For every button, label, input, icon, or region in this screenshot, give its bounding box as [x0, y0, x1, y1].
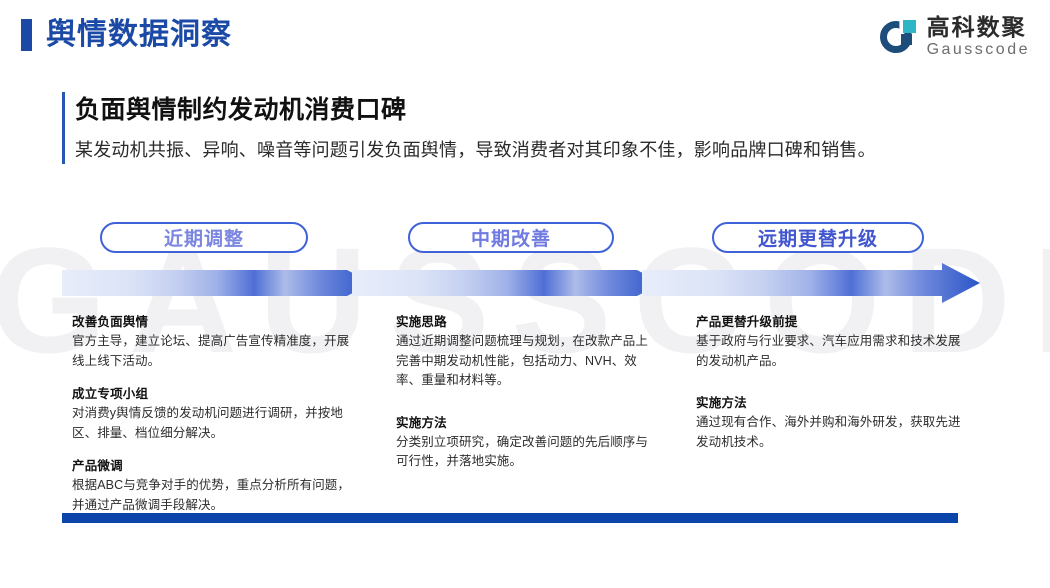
content-block-body: 基于政府与行业要求、汽车应用需求和技术发展的发动机产品。	[696, 332, 964, 371]
content-block: 实施思路 通过近期调整问题梳理与规划，在改款产品上完善中期发动机性能，包括动力、…	[396, 312, 658, 391]
content-block-title: 实施方法	[396, 413, 658, 433]
timeline-arrow	[62, 263, 980, 303]
gausscode-logo-icon	[880, 18, 918, 56]
header-accent-bar	[21, 19, 32, 51]
logo-square-dark	[901, 34, 912, 45]
content-block-body: 根据ABC与竞争对手的优势，重点分析所有问题，并通过产品微调手段解决。	[72, 476, 355, 515]
content-block-title: 实施思路	[396, 312, 658, 332]
column-mid-term: 实施思路 通过近期调整问题梳理与规划，在改款产品上完善中期发动机性能，包括动力、…	[396, 312, 658, 485]
content-block-body: 通过近期调整问题梳理与规划，在改款产品上完善中期发动机性能，包括动力、NVH、效…	[396, 332, 658, 391]
column-long-term: 产品更替升级前提 基于政府与行业要求、汽车应用需求和技术发展的发动机产品。 实施…	[696, 312, 964, 465]
content-block-body: 分类别立项研究，确定改善问题的先后顺序与可行性，并落地实施。	[396, 433, 658, 472]
stage-pill-label: 中期改善	[471, 224, 551, 251]
content-block-title: 产品更替升级前提	[696, 312, 964, 332]
logo-name-en: Gausscode	[927, 42, 1030, 58]
content-block: 产品微调 根据ABC与竞争对手的优势，重点分析所有问题，并通过产品微调手段解决。	[72, 456, 355, 515]
content-block: 产品更替升级前提 基于政府与行业要求、汽车应用需求和技术发展的发动机产品。	[696, 312, 964, 371]
stage-pill-long-term[interactable]: 远期更替升级	[712, 222, 924, 253]
stage-pill-mid-term[interactable]: 中期改善	[408, 222, 614, 253]
content-block-title: 成立专项小组	[72, 384, 355, 404]
column-near-term: 改善负面舆情 官方主导，建立论坛、提高广告宣传精准度，开展线上线下活动。 成立专…	[72, 312, 355, 528]
slide-header: 舆情数据洞察 高科数聚 Gausscode	[0, 0, 1050, 72]
content-block-title: 产品微调	[72, 456, 355, 476]
content-block-body: 通过现有合作、海外并购和海外研发，获取先进发动机技术。	[696, 413, 964, 452]
timeline-arrow-svg	[62, 263, 980, 303]
logo-name-cn: 高科数聚	[927, 16, 1030, 39]
stage-pill-near-term[interactable]: 近期调整	[100, 222, 308, 253]
brand-logo: 高科数聚 Gausscode	[880, 11, 1030, 63]
content-block-title: 实施方法	[696, 393, 964, 413]
content-block-title: 改善负面舆情	[72, 312, 355, 332]
content-block: 实施方法 分类别立项研究，确定改善问题的先后顺序与可行性，并落地实施。	[396, 413, 658, 472]
content-block-body: 对消费y舆情反馈的发动机问题进行调研，并按地区、排量、档位细分解决。	[72, 404, 355, 443]
stage-pill-label: 近期调整	[164, 224, 244, 251]
subheadline-text: 某发动机共振、异响、噪音等问题引发负面舆情，导致消费者对其印象不佳，影响品牌口碑…	[75, 136, 975, 164]
content-block: 成立专项小组 对消费y舆情反馈的发动机问题进行调研，并按地区、排量、档位细分解决…	[72, 384, 355, 443]
stage-pill-label: 远期更替升级	[758, 224, 878, 251]
content-block: 实施方法 通过现有合作、海外并购和海外研发，获取先进发动机技术。	[696, 393, 964, 452]
headline-text: 负面舆情制约发动机消费口碑	[75, 92, 975, 128]
page-title: 舆情数据洞察	[46, 14, 232, 56]
footer-bar	[62, 513, 958, 523]
logo-square-teal	[903, 20, 916, 33]
title-block: 负面舆情制约发动机消费口碑 某发动机共振、异响、噪音等问题引发负面舆情，导致消费…	[62, 92, 975, 164]
content-block: 改善负面舆情 官方主导，建立论坛、提高广告宣传精准度，开展线上线下活动。	[72, 312, 355, 371]
content-block-body: 官方主导，建立论坛、提高广告宣传精准度，开展线上线下活动。	[72, 332, 355, 371]
logo-text: 高科数聚 Gausscode	[927, 16, 1030, 58]
